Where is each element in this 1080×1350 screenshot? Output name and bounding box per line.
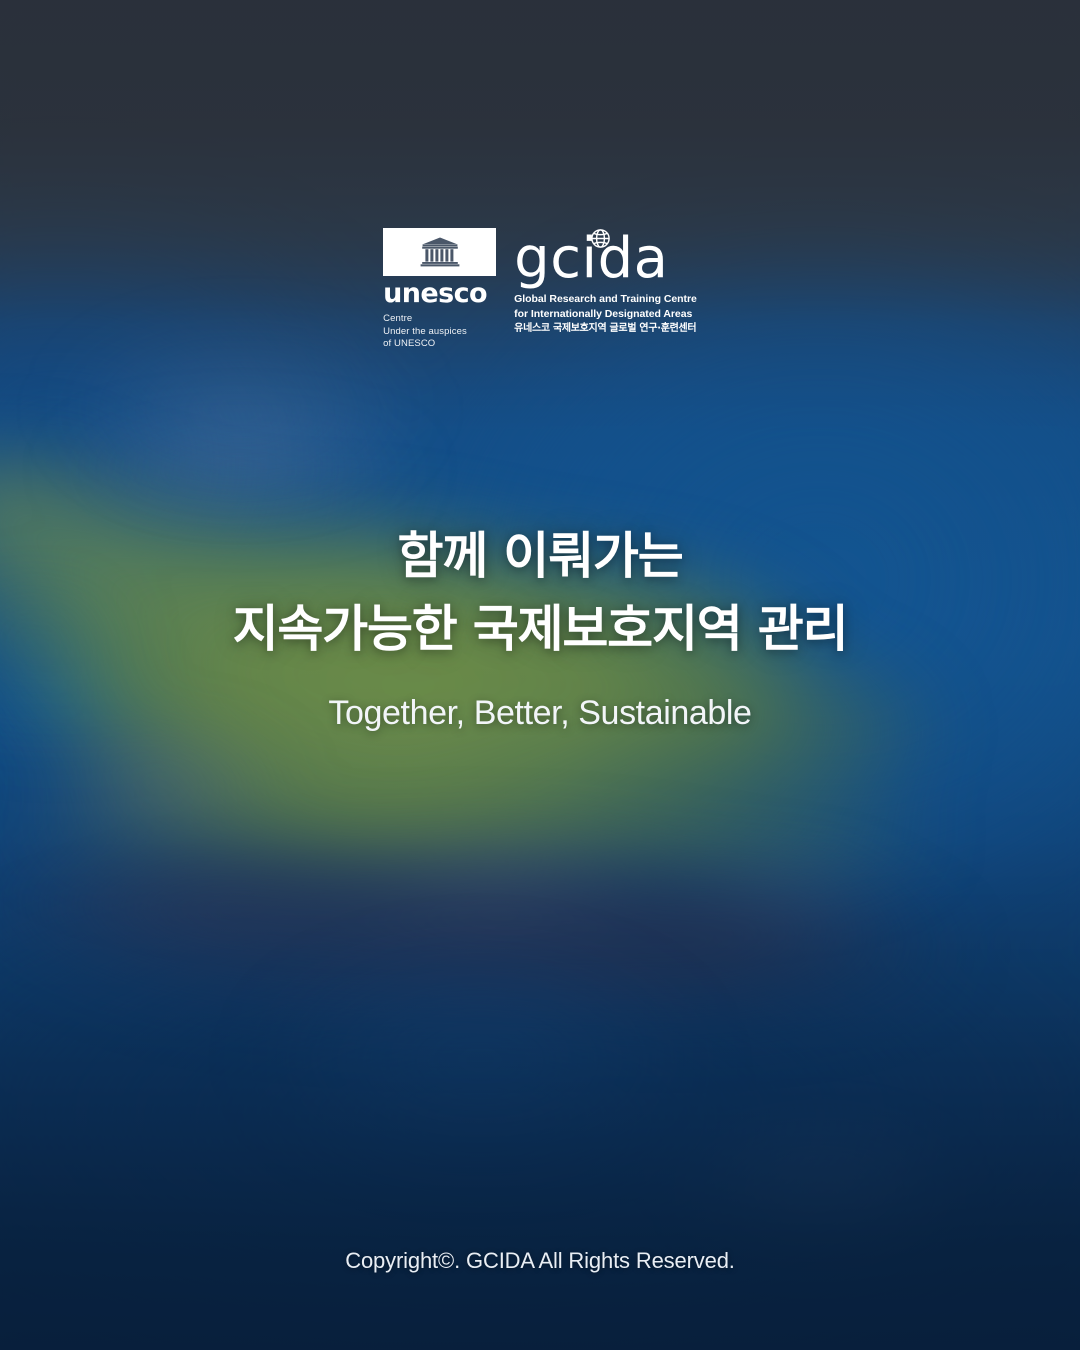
gcida-tagline-korean: 유네스코 국제보호지역 글로벌 연구·훈련센터 [514, 322, 697, 337]
unesco-emblem-box [383, 228, 496, 276]
unesco-subtext: Centre Under the auspices of UNESCO [383, 313, 496, 351]
gcida-wordmark-row: gcida [514, 230, 697, 286]
unesco-wordmark: unesco [383, 280, 496, 307]
gcida-tagline-line1: Global Research and Training Centre [514, 292, 697, 307]
headline-line-1: 함께 이뤄가는 [233, 520, 848, 593]
intro-splash-page: unesco Centre Under the auspices of UNES… [0, 0, 1080, 1350]
gcida-logo[interactable]: gcida Global Research and Training Centr… [514, 228, 697, 336]
unesco-logo[interactable]: unesco Centre Under the auspices of UNES… [383, 228, 496, 351]
globe-icon [590, 228, 611, 249]
logo-lockup[interactable]: unesco Centre Under the auspices of UNES… [383, 228, 697, 338]
page-subtitle: Together, Better, Sustainable [328, 693, 751, 734]
page-title: 함께 이뤄가는 지속가능한 국제보호지역 관리 [233, 520, 848, 665]
copyright-footer: Copyright©. GCIDA All Rights Reserved. [0, 1248, 1080, 1274]
gcida-tagline: Global Research and Training Centre for … [514, 292, 697, 336]
page-content: unesco Centre Under the auspices of UNES… [0, 0, 1080, 1350]
unesco-temple-icon [418, 236, 462, 268]
headline-line-2: 지속가능한 국제보호지역 관리 [233, 593, 848, 666]
gcida-tagline-line2: for Internationally Designated Areas [514, 307, 697, 322]
